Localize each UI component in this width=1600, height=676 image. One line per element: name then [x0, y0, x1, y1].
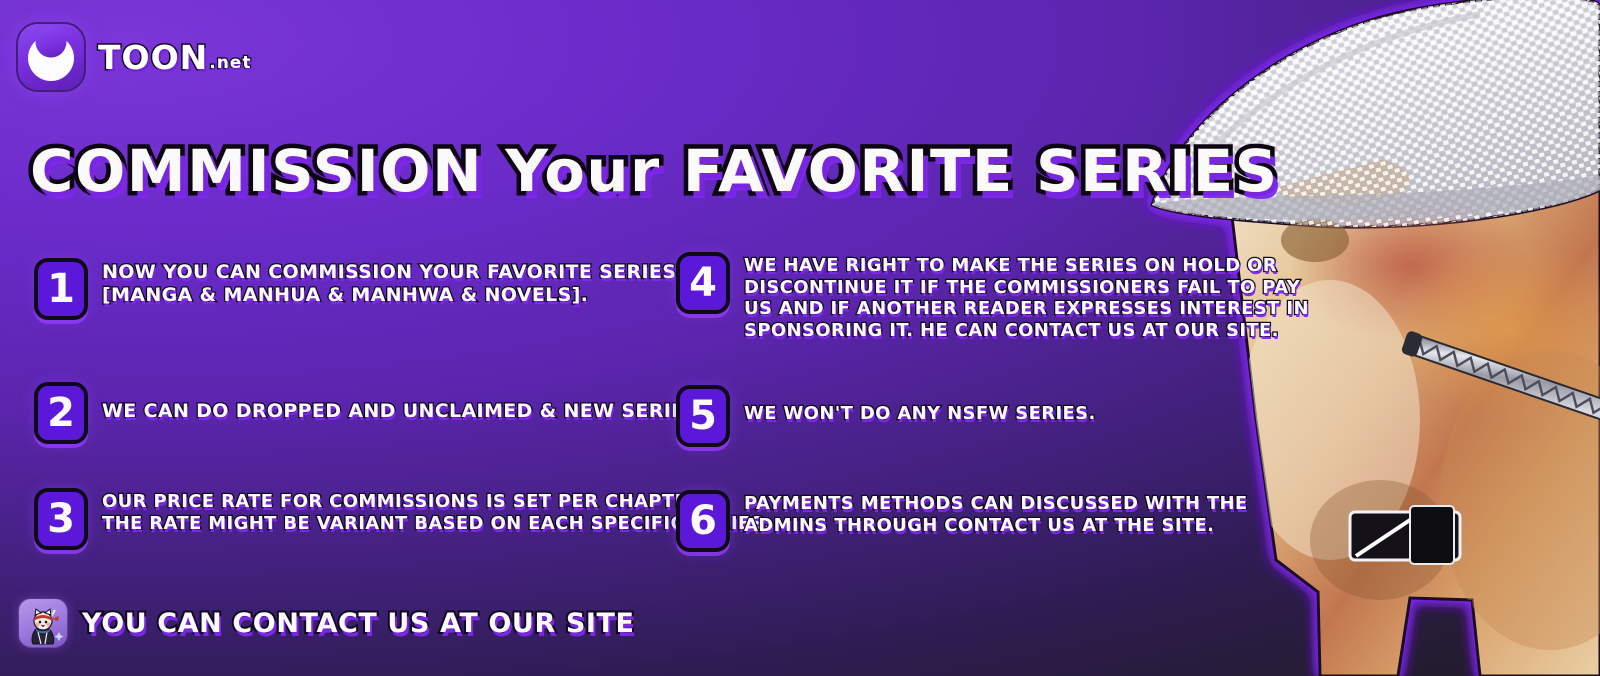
list-item: 1 NOW YOU CAN COMMISSION YOUR FAVORITE S…	[34, 258, 676, 320]
item-text-line: ADMINS THROUGH CONTACT US AT THE SITE.	[744, 515, 1248, 537]
obi-belt-icon	[1350, 506, 1460, 564]
site-logo[interactable]: TOON .net	[18, 24, 251, 90]
item-number-badge: 1	[34, 258, 88, 320]
contact-footer-text: YOU CAN CONTACT US AT OUR SITE	[82, 610, 635, 637]
item-text: NOW YOU CAN COMMISSION YOUR FAVORITE SER…	[102, 258, 676, 307]
list-item: 3 OUR PRICE RATE FOR COMMISSIONS IS SET …	[34, 488, 771, 550]
list-item: 6 PAYMENTS METHODS CAN DISCUSSED WITH TH…	[676, 490, 1248, 552]
item-text-line: OUR PRICE RATE FOR COMMISSIONS IS SET PE…	[102, 491, 771, 513]
item-text-line: [MANGA & MANHUA & MANHWA & NOVELS].	[102, 284, 676, 307]
list-item: 2 WE CAN DO DROPPED AND UNCLAIMED & NEW …	[34, 382, 706, 444]
item-text: WE WON'T DO ANY NSFW SERIES.	[744, 385, 1096, 425]
item-text: PAYMENTS METHODS CAN DISCUSSED WITH THE …	[744, 490, 1248, 536]
item-number-badge: 6	[676, 490, 730, 552]
item-text-line: WE WON'T DO ANY NSFW SERIES.	[744, 403, 1096, 425]
item-text: WE HAVE RIGHT TO MAKE THE SERIES ON HOLD…	[744, 252, 1309, 341]
mascot-fur-shading	[1240, 154, 1600, 650]
crescent-moon-icon	[18, 24, 84, 90]
katana-icon	[1401, 330, 1600, 428]
item-text: WE CAN DO DROPPED AND UNCLAIMED & NEW SE…	[102, 382, 706, 423]
list-item: 4 WE HAVE RIGHT TO MAKE THE SERIES ON HO…	[676, 252, 1309, 341]
list-item: 5 WE WON'T DO ANY NSFW SERIES.	[676, 385, 1096, 447]
item-text-line: NOW YOU CAN COMMISSION YOUR FAVORITE SER…	[102, 261, 676, 284]
logo-name: TOON	[98, 41, 208, 74]
item-text: OUR PRICE RATE FOR COMMISSIONS IS SET PE…	[102, 488, 771, 534]
page-title: COMMISSION Your FAVORITE SERIES	[30, 142, 1279, 200]
logo-wordmark: TOON .net	[98, 41, 251, 74]
terms-list: 1 NOW YOU CAN COMMISSION YOUR FAVORITE S…	[0, 240, 1260, 570]
item-number-badge: 4	[676, 252, 730, 314]
item-number-badge: 3	[34, 488, 88, 550]
item-number-badge: 5	[676, 385, 730, 447]
item-text-line: SPONSORING IT. HE CAN CONTACT US AT OUR …	[744, 320, 1309, 342]
straw-hat-texture	[1140, 0, 1600, 250]
item-text-line: US AND IF ANOTHER READER EXPRESSES INTER…	[744, 298, 1309, 320]
item-number-badge: 2	[34, 382, 88, 444]
item-text-line: WE HAVE RIGHT TO MAKE THE SERIES ON HOLD…	[744, 255, 1309, 277]
item-text-line: DISCONTINUE IT IF THE COMMISSIONERS FAIL…	[744, 277, 1309, 299]
commission-promo-banner: TOON .net COMMISSION Your FAVORITE SERIE…	[0, 0, 1600, 676]
contact-footer[interactable]: YOU CAN CONTACT US AT OUR SITE	[18, 598, 635, 648]
item-text-line: THE RATE MIGHT BE VARIANT BASED ON EACH …	[102, 513, 771, 535]
item-text-line: PAYMENTS METHODS CAN DISCUSSED WITH THE	[744, 493, 1248, 515]
item-text-line: WE CAN DO DROPPED AND UNCLAIMED & NEW SE…	[102, 400, 706, 423]
samurai-cat-avatar-icon	[18, 598, 68, 648]
logo-tld: .net	[209, 55, 251, 72]
